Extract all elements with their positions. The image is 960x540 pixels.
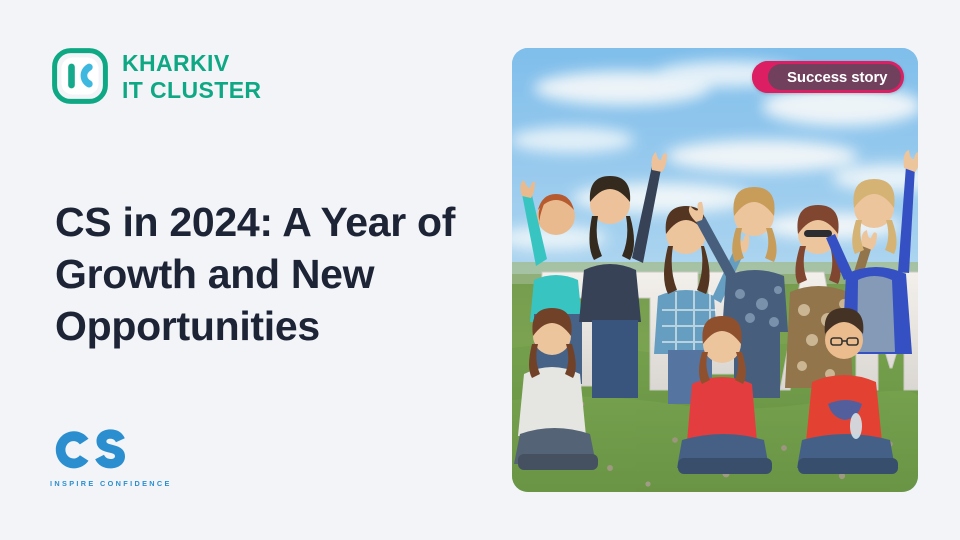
brand-name-line2: IT CLUSTER	[122, 79, 261, 102]
status-badge[interactable]: Success story	[752, 61, 904, 93]
kharkiv-it-cluster-wordmark: KHARKIV IT CLUSTER	[122, 51, 261, 102]
left-content-column: KHARKIV IT CLUSTER CS in 2024: A Year of…	[0, 0, 500, 540]
slide-canvas: KHARKIV IT CLUSTER CS in 2024: A Year of…	[0, 0, 960, 540]
status-badge-label: Success story	[768, 64, 901, 90]
brand-name-line1: KHARKIV	[122, 52, 261, 75]
page-title: CS in 2024: A Year of Growth and New Opp…	[55, 196, 475, 352]
cs-logo-tagline: INSPIRE CONFIDENCE	[50, 479, 178, 488]
cs-logo-icon	[48, 428, 144, 476]
success-story-photo	[512, 48, 918, 492]
kharkiv-it-cluster-logo-icon	[52, 48, 108, 104]
kharkiv-it-cluster-logo: KHARKIV IT CLUSTER	[52, 48, 261, 104]
photo-illustration	[512, 48, 918, 492]
cs-logo: INSPIRE CONFIDENCE	[48, 428, 178, 488]
